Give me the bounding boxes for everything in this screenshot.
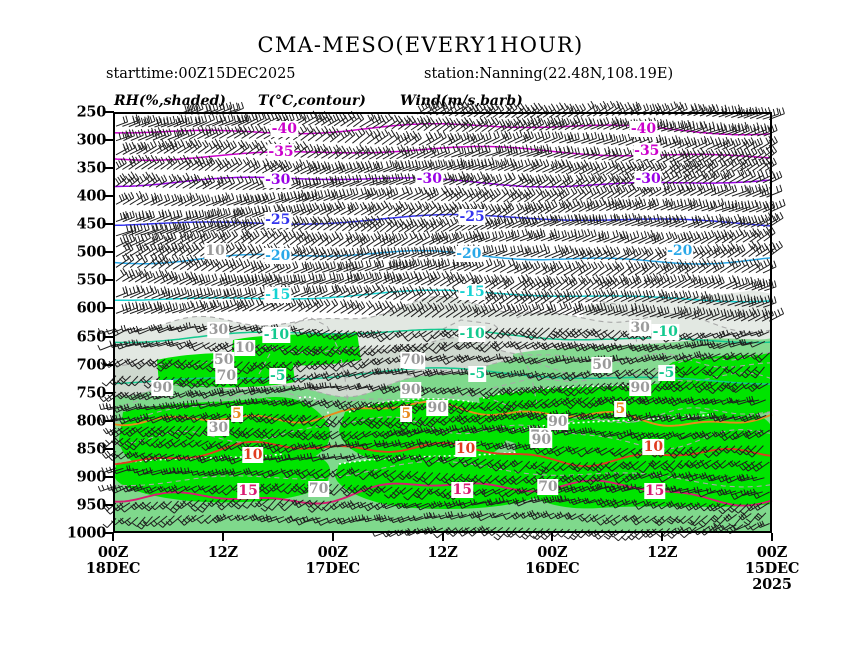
temperature-contour-label: 15 [644,483,665,499]
rh-contour-label: 70 [216,368,237,384]
x-axis-date-label: 16DEC [525,561,579,577]
temperature-contour-label: -20 [264,248,291,264]
y-axis-tick-label: 700 [77,356,106,373]
starttime-label: starttime:00Z15DEC2025 [106,66,296,82]
temperature-contour-label: 10 [643,439,664,455]
x-axis-time-label: 00Z [86,545,140,561]
y-axis-tick [105,111,114,113]
x-axis-tick-group: 12Z [208,545,238,561]
x-axis-tick [442,533,444,541]
rh-contour-label: 50 [213,352,234,368]
x-axis-tick-group: 00Z16DEC [525,545,579,577]
temperature-contour-label: 5 [615,401,627,417]
rh-contour-label: 70 [400,352,421,368]
station-label: station:Nanning(22.48N,108.19E) [424,66,673,82]
x-axis-time-label: 00Z [305,545,359,561]
temperature-contour-label: -30 [264,172,291,188]
y-axis-tick [105,364,114,366]
rh-contour-label: 30 [629,320,650,336]
temperature-contour-label: -20 [666,243,693,259]
y-axis-tick-label: 650 [77,328,106,345]
temperature-contour-label: -15 [264,287,291,303]
chart-canvas: CMA-MESO(EVERY1HOUR) starttime:00Z15DEC2… [0,0,841,650]
x-axis-year-label: 2025 [745,577,799,593]
y-axis-tick-label: 500 [77,244,106,261]
x-axis-tick [112,533,114,541]
x-axis-tick-group: 00Z17DEC [305,545,359,577]
y-axis-tick-label: 450 [77,216,106,233]
rh-contour-label: 90 [400,382,421,398]
temperature-contour-label: -25 [264,212,291,228]
x-axis-tick [661,533,663,541]
temperature-contour-label: -5 [469,366,487,382]
rh-contour-label: 90 [531,432,552,448]
x-axis-time-label: 00Z [745,545,799,561]
x-axis-date-label: 17DEC [305,561,359,577]
x-axis-tick-group: 00Z18DEC [86,545,140,577]
x-axis-date-label: 15DEC [745,561,799,577]
temperature-contour-label: -40 [630,121,657,137]
y-axis-tick [105,223,114,225]
temperature-contour-label: -5 [269,368,287,384]
temperature-contour-label: -10 [652,324,679,340]
x-axis-tick [222,533,224,541]
x-axis-time-label: 12Z [647,545,677,561]
x-axis-tick [332,533,334,541]
y-axis-tick-label: 600 [77,300,106,317]
rh-contour-label: 30 [208,420,229,436]
temperature-contour-label: 5 [231,406,243,422]
y-axis-tick-label: 850 [77,440,106,457]
x-axis-time-label: 00Z [525,545,579,561]
y-axis-tick-label: 300 [77,132,106,149]
temperature-contour-label: 10 [242,447,263,463]
y-axis-tick [105,448,114,450]
x-axis-tick [771,533,773,541]
x-axis-time-label: 12Z [427,545,457,561]
y-axis: 2503003504004505005506006507007508008509… [48,112,106,533]
temperature-contour-label: -30 [416,171,443,187]
temperature-contour-label: 10 [455,441,476,457]
y-axis-tick [105,195,114,197]
rh-contour-label: 90 [426,400,447,416]
rh-contour-label: 50 [591,357,612,373]
temperature-contour-label: -15 [458,284,485,300]
y-axis-tick-label: 900 [77,468,106,485]
rh-contour-label: 70 [537,479,558,495]
rh-contour-label: 90 [152,380,173,396]
x-axis-date-label: 18DEC [86,561,140,577]
y-axis-tick-label: 400 [77,188,106,205]
y-axis-tick [105,307,114,309]
x-axis-tick-group: 12Z [427,545,457,561]
temperature-contour-label: -10 [458,326,485,342]
y-axis-tick [105,392,114,394]
temperature-contour-label: -30 [634,171,661,187]
temperature-contour-label: 15 [452,482,473,498]
temperature-contour-label: 5 [400,406,412,422]
temperature-contour-label: -35 [267,144,294,160]
y-axis-tick [105,504,114,506]
temperature-contour-label: -25 [458,209,485,225]
rh-contour-label: 70 [308,481,329,497]
rh-contour-label: 30 [208,322,229,338]
y-axis-tick [105,279,114,281]
temperature-contour-label: -5 [658,365,676,381]
temperature-contour-label: -10 [263,327,290,343]
x-axis-tick-group: 12Z [647,545,677,561]
x-axis-tick-group: 00Z15DEC2025 [745,545,799,593]
legend-temperature: T(°C,contour) [258,93,366,109]
y-axis-tick-label: 950 [77,496,106,513]
temperature-contour-label: -20 [455,246,482,262]
rh-contour-label: 90 [547,414,568,430]
y-axis-tick [105,336,114,338]
y-axis-tick [105,251,114,253]
temperature-contour-label: -40 [271,121,298,137]
plot-area: -40-40-35-35-30-30-30-25-25-20-20-20-15-… [113,112,772,533]
y-axis-tick [105,139,114,141]
rh-contour-label: 90 [629,380,650,396]
y-axis-tick [105,167,114,169]
temperature-contour-label: 15 [237,483,258,499]
rh-contour-label: 10 [204,243,225,259]
y-axis-tick-label: 350 [77,160,106,177]
y-axis-tick [105,476,114,478]
temperature-contour-label: -35 [633,143,660,159]
x-axis-time-label: 12Z [208,545,238,561]
y-axis-tick-label: 550 [77,272,106,289]
page-title: CMA-MESO(EVERY1HOUR) [0,33,841,57]
x-axis-tick [551,533,553,541]
y-axis-tick [105,420,114,422]
y-axis-tick-label: 750 [77,384,106,401]
rh-contour-label: 10 [234,340,255,356]
x-axis: 00Z18DEC12Z00Z17DEC12Z00Z16DEC12Z00Z15DE… [0,537,841,607]
y-axis-tick-label: 250 [77,104,106,121]
